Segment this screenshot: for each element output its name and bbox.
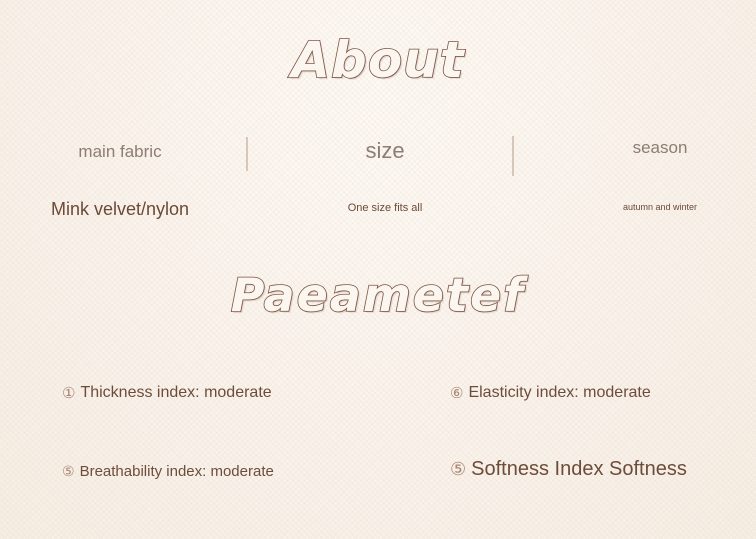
spec-value-season: autumn and winter [575,202,745,212]
spec-value-size: One size fits all [300,202,470,214]
circled-number-1-icon: ① [62,386,75,401]
circled-number-5-icon: ⑤ [62,465,75,479]
parameter-item-elasticity-label: Elasticity index: moderate [468,384,650,402]
spec-divider-first [246,137,248,171]
spec-label-main-fabric: main fabric [10,142,230,162]
about-section-title: About [0,32,756,88]
parameter-item-breathability: ⑤ Breathability index: moderate [62,463,274,480]
circled-number-6-icon: ⑥ [450,386,463,401]
parameter-item-softness: ⑤ Softness Index Softness [450,458,687,481]
product-info-page: About main fabric Mink velvet/nylon size… [0,0,756,539]
parameter-item-breathability-label: Breathability index: moderate [80,463,274,480]
spec-column-season: season autumn and winter [575,118,745,238]
spec-label-season: season [575,138,745,158]
parameter-item-thickness-label: Thickness index: moderate [80,384,271,402]
parameter-item-softness-label: Softness Index Softness [471,458,687,481]
parameter-item-elasticity: ⑥ Elasticity index: moderate [450,384,651,402]
parameter-item-thickness: ① Thickness index: moderate [62,384,272,402]
spec-column-main-fabric: main fabric Mink velvet/nylon [10,118,230,238]
spec-value-main-fabric: Mink velvet/nylon [10,199,230,220]
circled-number-5-icon: ⑤ [450,461,466,479]
spec-divider-second [512,136,514,176]
parameter-section-title: Paeametef [0,268,756,322]
about-spec-row: main fabric Mink velvet/nylon size One s… [0,118,756,238]
spec-column-size: size One size fits all [300,118,470,238]
spec-label-size: size [300,138,470,164]
